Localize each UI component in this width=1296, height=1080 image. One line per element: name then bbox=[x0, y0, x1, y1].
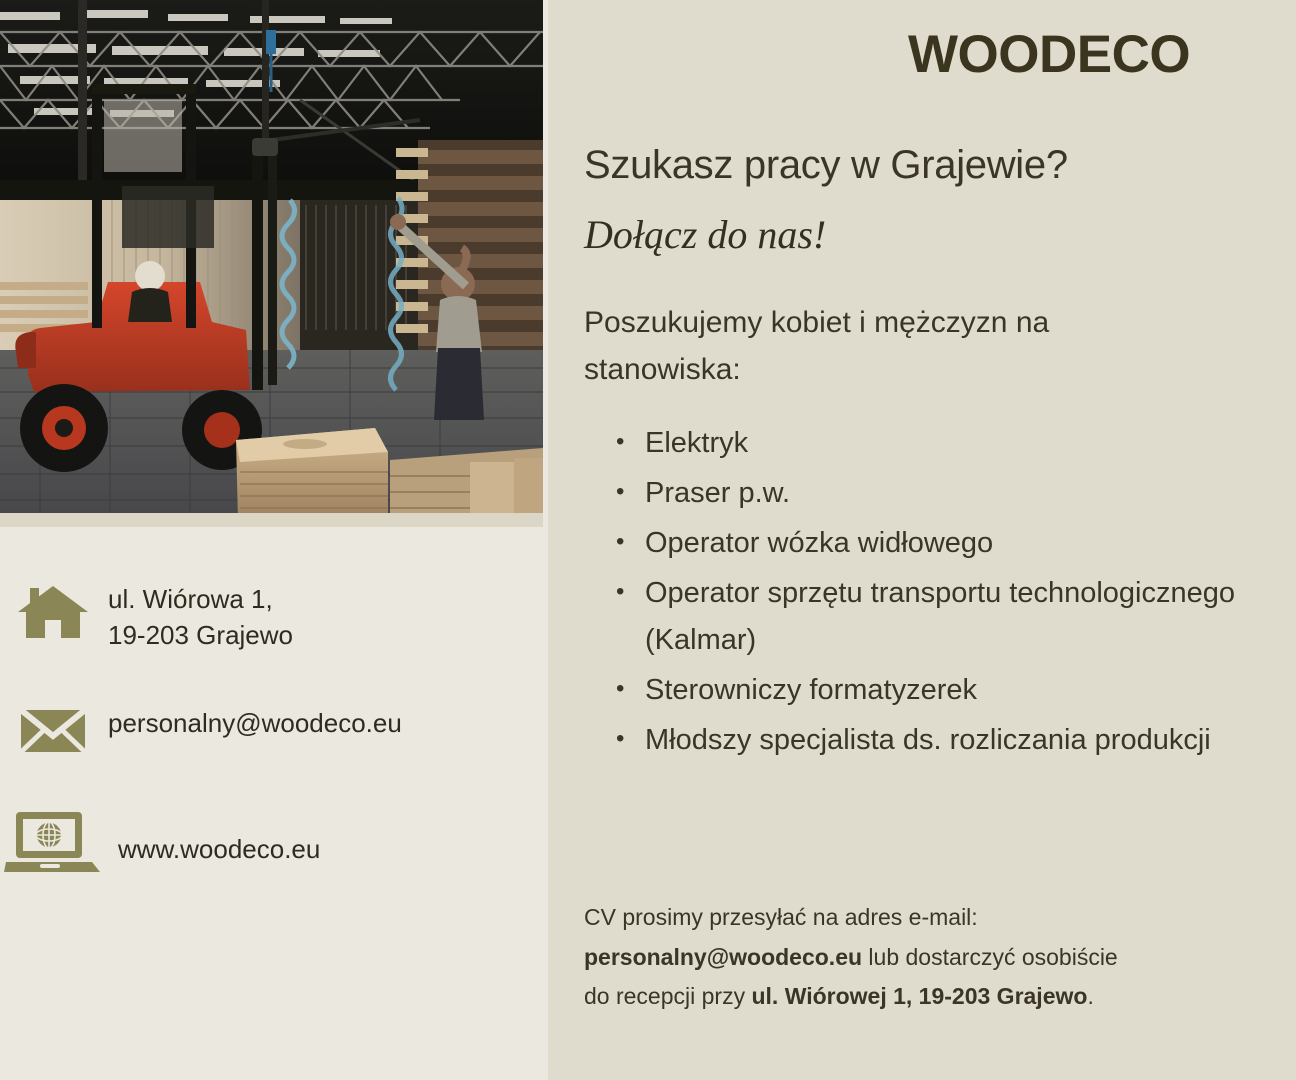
email-text[interactable]: personalny@woodeco.eu bbox=[108, 706, 402, 742]
laptop-globe-icon bbox=[4, 806, 82, 868]
job-advert-poster: ul. Wiórowa 1, 19-203 Grajewo personalny… bbox=[0, 0, 1296, 1080]
footer-line-1: CV prosimy przesyłać na adres e-mail: bbox=[584, 904, 978, 930]
contact-row-website[interactable]: www.woodeco.eu bbox=[0, 810, 548, 882]
list-item: Sterowniczy formatyzerek bbox=[610, 667, 1250, 715]
contact-row-email[interactable]: personalny@woodeco.eu bbox=[0, 696, 548, 768]
list-item: Praser p.w. bbox=[610, 470, 1250, 518]
lead-text: Poszukujemy kobiet i mężczyzn na stanowi… bbox=[584, 300, 1144, 393]
address-line-2: 19-203 Grajewo bbox=[108, 620, 293, 650]
right-panel: WOODECO Szukasz pracy w Grajewie? Dołącz… bbox=[548, 0, 1296, 1080]
headline-question: Szukasz pracy w Grajewie? bbox=[584, 142, 1274, 188]
application-instructions: CV prosimy przesyłać na adres e-mail: pe… bbox=[584, 898, 1264, 1017]
footer-email-bold: personalny@woodeco.eu bbox=[584, 944, 862, 970]
footer-line-3-prefix: do recepcji przy bbox=[584, 983, 751, 1009]
headline-cta: Dołącz do nas! bbox=[584, 212, 1274, 258]
list-item: Operator wózka widłowego bbox=[610, 520, 1250, 568]
footer-middle: lub dostarczyć osobiście bbox=[862, 944, 1118, 970]
envelope-icon bbox=[14, 696, 92, 758]
website-text[interactable]: www.woodeco.eu bbox=[118, 832, 320, 868]
list-item: Elektryk bbox=[610, 420, 1250, 468]
job-positions-list: Elektryk Praser p.w. Operator wózka widł… bbox=[610, 420, 1250, 767]
footer-line-3-suffix: . bbox=[1087, 983, 1093, 1009]
list-item: Operator sprzętu transportu technologicz… bbox=[610, 570, 1250, 666]
home-icon bbox=[14, 582, 92, 644]
list-item: Młodszy specjalista ds. rozliczania prod… bbox=[610, 717, 1250, 765]
footer-address-bold: ul. Wiórowej 1, 19-203 Grajewo bbox=[751, 983, 1087, 1009]
brand-logo: WOODECO bbox=[908, 28, 1190, 81]
contact-block: ul. Wiórowa 1, 19-203 Grajewo personalny… bbox=[0, 582, 548, 924]
address-line-1: ul. Wiórowa 1, bbox=[108, 584, 273, 614]
address-text: ul. Wiórowa 1, 19-203 Grajewo bbox=[108, 582, 293, 654]
contact-row-address: ul. Wiórowa 1, 19-203 Grajewo bbox=[0, 582, 548, 654]
left-panel: ul. Wiórowa 1, 19-203 Grajewo personalny… bbox=[0, 0, 548, 1080]
warehouse-photo bbox=[0, 0, 543, 527]
